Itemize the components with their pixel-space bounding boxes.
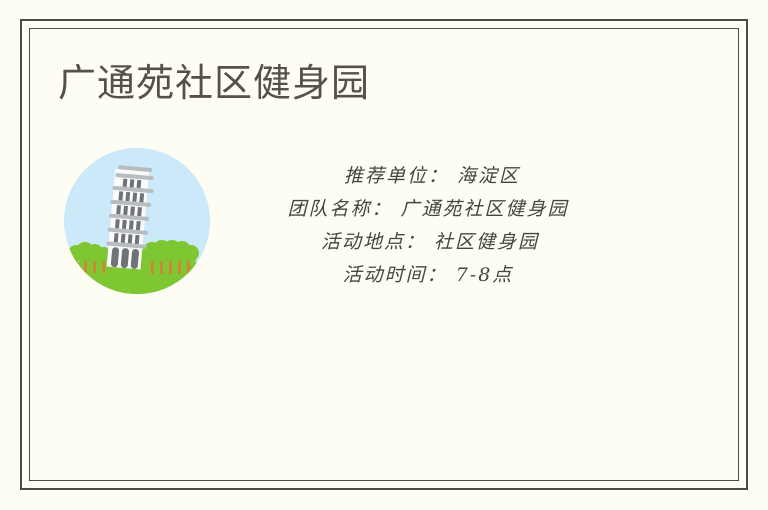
leaning-tower-illustration <box>64 148 210 294</box>
info-line-recommending-unit: 推荐单位： 海淀区 <box>228 160 628 193</box>
activity-info-block: 推荐单位： 海淀区 团队名称： 广通苑社区健身园 活动地点： 社区健身园 活动时… <box>228 160 628 292</box>
page-title: 广通苑社区健身园 <box>58 60 370 108</box>
info-line-activity-time: 活动时间： 7-8点 <box>228 259 628 292</box>
info-line-activity-location: 活动地点： 社区健身园 <box>228 226 628 259</box>
poster-card: 广通苑社区健身园 <box>0 0 768 510</box>
leaning-tower-icon <box>64 148 210 294</box>
info-line-team-name: 团队名称： 广通苑社区健身园 <box>228 193 628 226</box>
